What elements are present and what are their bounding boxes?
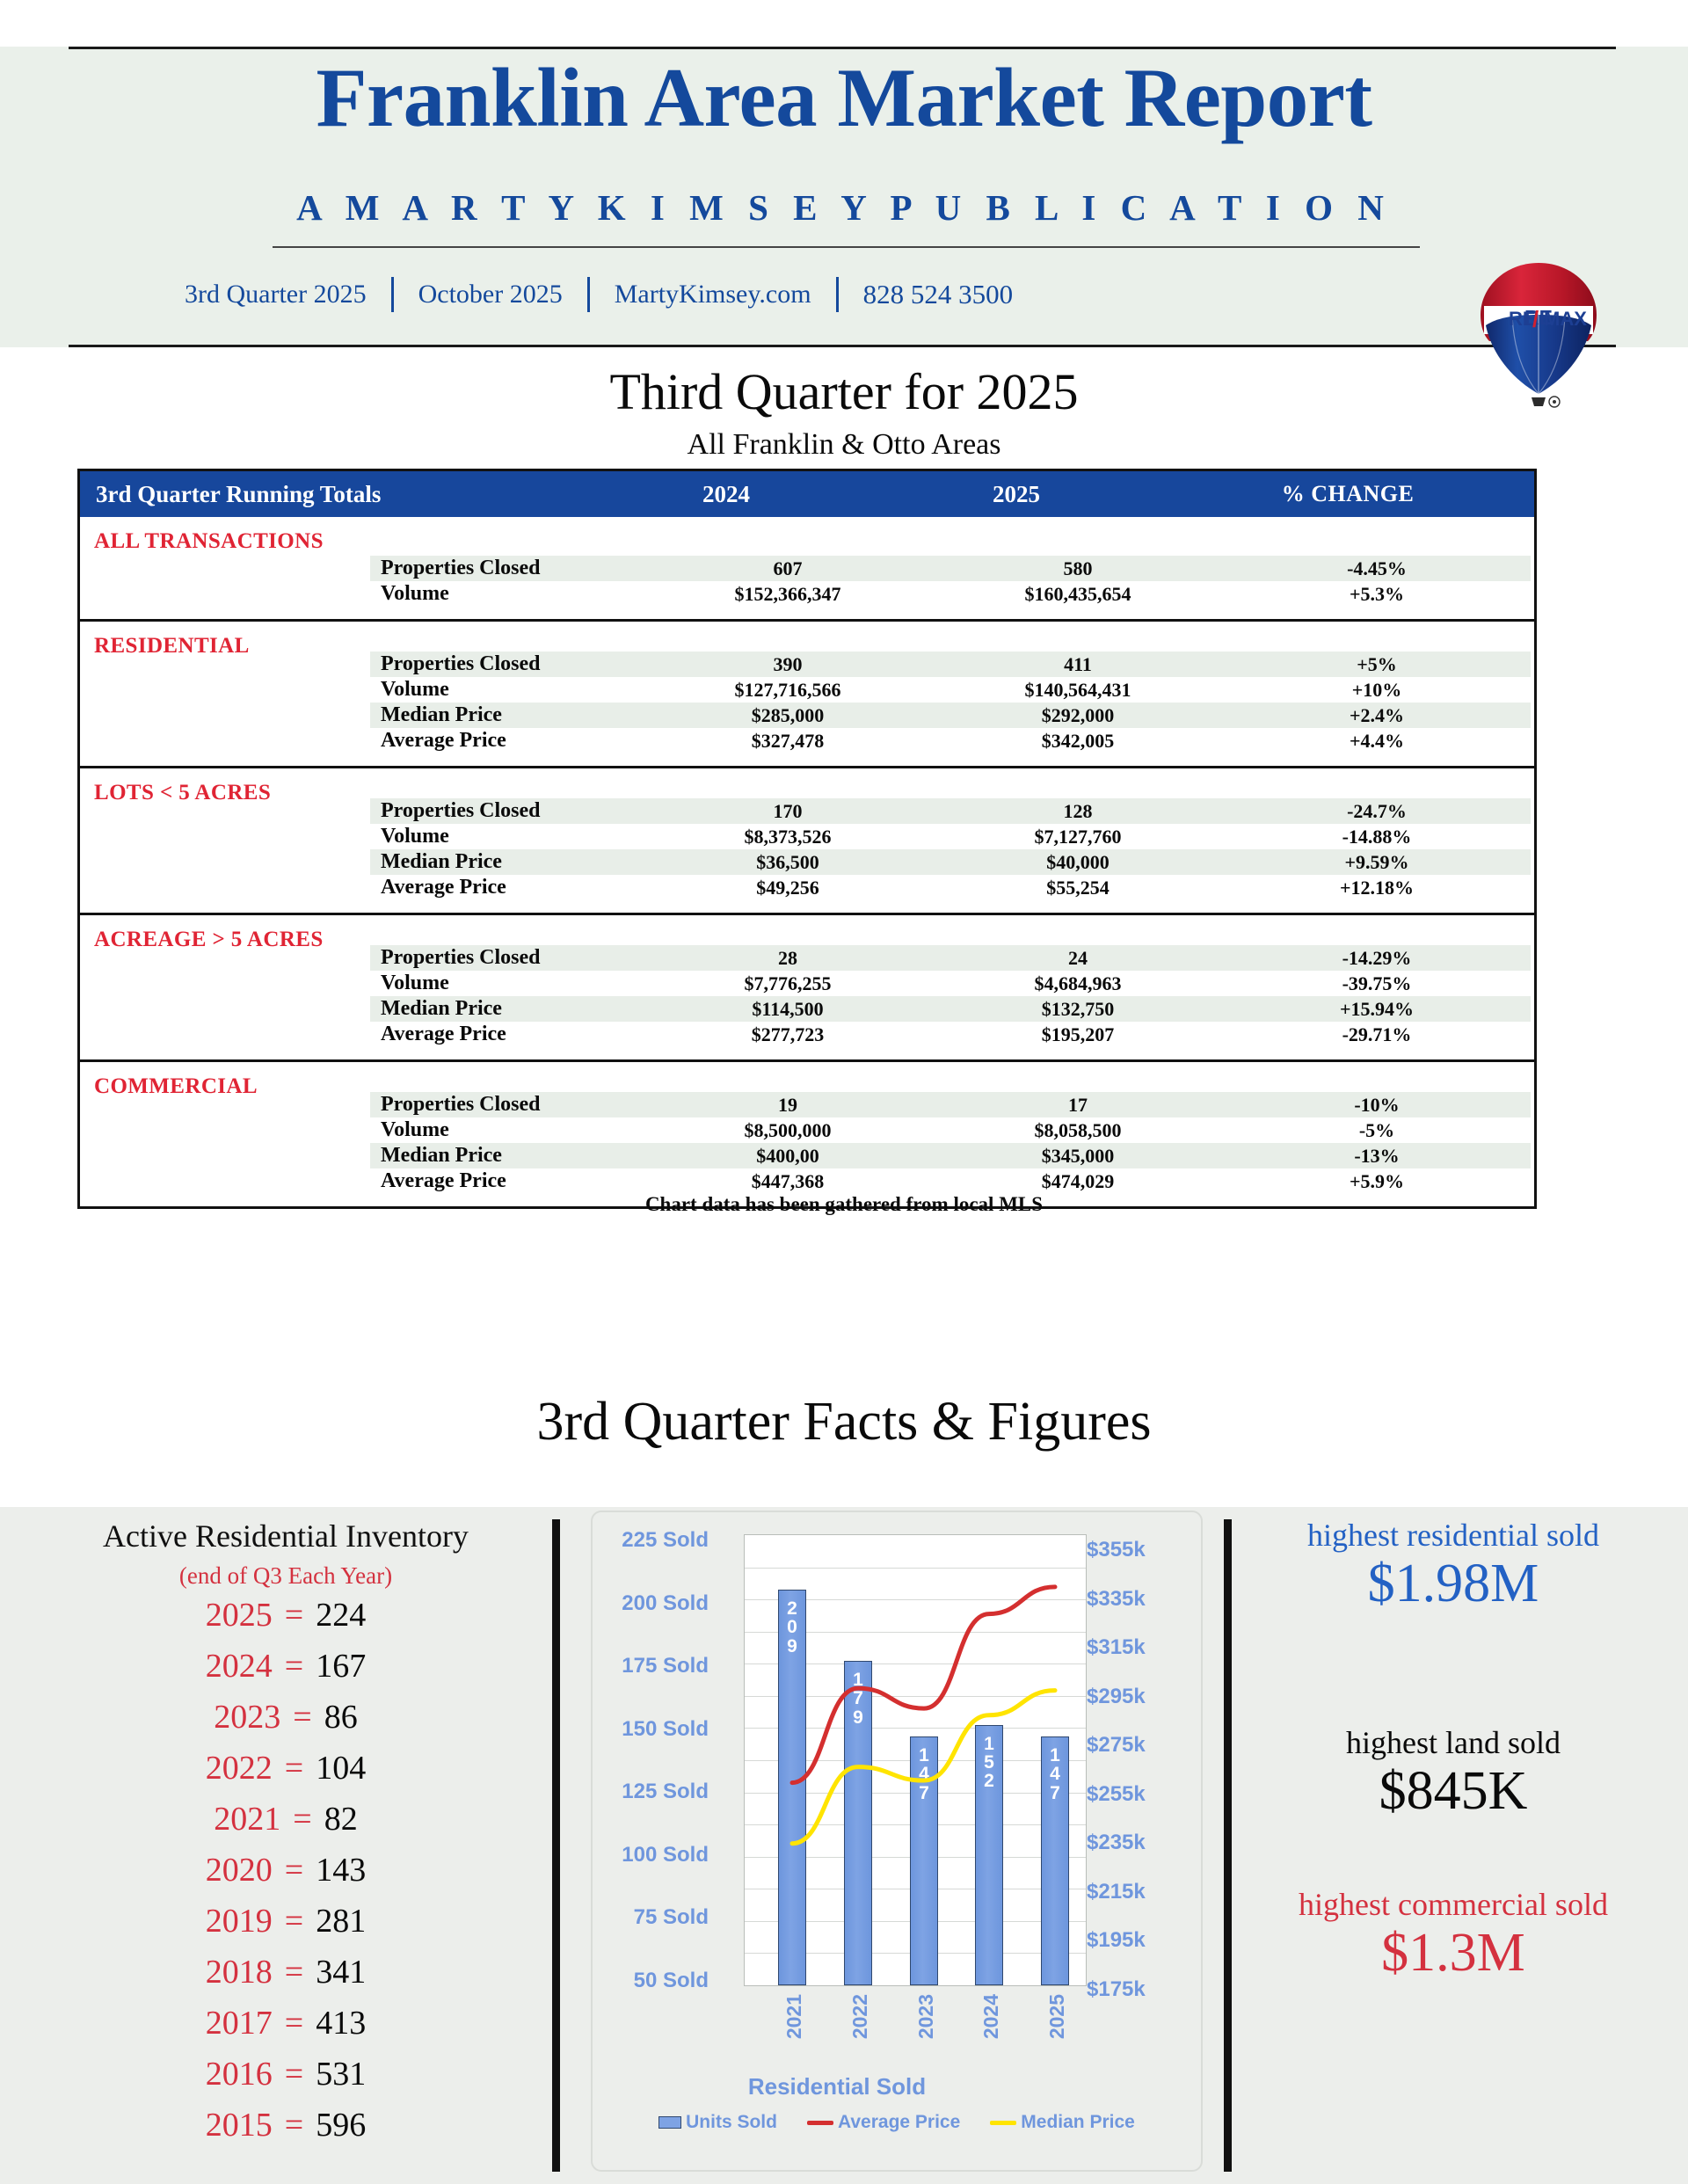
table-cell-2025: 24 [933, 947, 1223, 970]
table-cell-2024: $327,478 [643, 730, 933, 753]
highlight-land: highest land sold $845K [1247, 1725, 1660, 1824]
inventory-item-value: 167 [316, 1647, 366, 1685]
header-meta-row: 3rd Quarter 2025 October 2025 MartyKimse… [185, 277, 1433, 312]
table-cell-change: -29.71% [1223, 1023, 1531, 1046]
highlight-land-label: highest land sold [1247, 1725, 1660, 1760]
chart-x-label: 2021 [782, 1994, 806, 2039]
table-cell-label: Properties Closed [370, 946, 643, 970]
right-axis-tick: $295k [1087, 1685, 1146, 1709]
table-cell-label: Median Price [370, 997, 643, 1021]
right-axis-tick: $175k [1087, 1977, 1146, 2002]
table-cell-label: Properties Closed [370, 557, 643, 580]
table-cell-2024: $277,723 [643, 1023, 933, 1046]
table-row: Volume$8,500,000$8,058,500-5% [370, 1117, 1531, 1143]
inventory-item-year: 2015 [206, 2106, 273, 2144]
chart-legend-item: Median Price [990, 2112, 1135, 2133]
inventory-item-year: 2025 [206, 1596, 273, 1634]
highlight-residential: highest residential sold $1.98M [1247, 1518, 1660, 1616]
inventory-item: 2023=86 [53, 1698, 519, 1749]
table-cell-label: Average Price [370, 729, 643, 753]
meta-website-link[interactable]: MartyKimsey.com [615, 280, 811, 309]
table-cell-label: Average Price [370, 876, 643, 899]
inventory-item-equals: = [293, 1698, 311, 1736]
inventory-item-year: 2017 [206, 2004, 273, 2042]
inventory-item-year: 2016 [206, 2055, 273, 2093]
average-price-line [792, 1587, 1055, 1783]
table-cell-2025: $55,254 [933, 877, 1223, 899]
highlight-residential-label: highest residential sold [1247, 1518, 1660, 1553]
table-row: Volume$8,373,526$7,127,760-14.88% [370, 824, 1531, 849]
chart-right-axis: $355k$335k$315k$295k$275k$255k$235k$215k… [1087, 1532, 1201, 1980]
legend-line-swatch [990, 2121, 1016, 2125]
table-cell-change: -5% [1223, 1119, 1531, 1142]
inventory-item: 2025=224 [53, 1596, 519, 1647]
inventory-item-value: 104 [316, 1749, 366, 1787]
inventory-item-value: 143 [316, 1851, 366, 1889]
table-section-rows: Properties Closed1917-10%Volume$8,500,00… [370, 1062, 1531, 1206]
table-cell-change: +15.94% [1223, 998, 1531, 1021]
svg-text:/: / [1532, 306, 1539, 332]
table-cell-change: -10% [1223, 1094, 1531, 1117]
table-cell-label: Median Price [370, 850, 643, 874]
table-section-title: ALL TRANSACTIONS [94, 529, 324, 554]
table-cell-change: -13% [1223, 1145, 1531, 1168]
legend-label: Median Price [1021, 2112, 1135, 2133]
table-cell-2024: 19 [643, 1094, 933, 1117]
table-section-rows: Properties Closed607580-4.45%Volume$152,… [370, 517, 1531, 619]
inventory-item: 2022=104 [53, 1749, 519, 1800]
table-row: Median Price$285,000$292,000+2.4% [370, 703, 1531, 728]
table-cell-label: Properties Closed [370, 799, 643, 823]
inventory-item-equals: = [285, 1647, 303, 1685]
table-section: COMMERCIALProperties Closed1917-10%Volum… [80, 1062, 1534, 1206]
right-axis-tick: $315k [1087, 1635, 1146, 1660]
table-row: Properties Closed390411+5% [370, 652, 1531, 677]
meta-separator-3 [836, 277, 839, 312]
inventory-item-equals: = [285, 2055, 303, 2093]
table-row: Volume$152,366,347$160,435,654+5.3% [370, 581, 1531, 607]
right-axis-tick: $235k [1087, 1831, 1146, 1855]
table-cell-2025: 411 [933, 653, 1223, 676]
column-header-2025: 2025 [871, 481, 1161, 508]
header-bottom-rule [69, 345, 1616, 347]
inventory-item-value: 86 [324, 1698, 358, 1736]
table-section: ACREAGE > 5 ACRESProperties Closed2824-1… [80, 915, 1534, 1062]
right-axis-tick: $195k [1087, 1928, 1146, 1953]
table-row: Median Price$114,500$132,750+15.94% [370, 996, 1531, 1022]
inventory-item-value: 596 [316, 2106, 366, 2144]
table-cell-change: +5.9% [1223, 1170, 1531, 1193]
table-cell-2024: $8,373,526 [643, 826, 933, 848]
chart-x-label: 2024 [979, 1994, 1003, 2039]
right-axis-tick: $215k [1087, 1880, 1146, 1904]
table-section: RESIDENTIALProperties Closed390411+5%Vol… [80, 622, 1534, 768]
table-cell-label: Properties Closed [370, 1093, 643, 1117]
inventory-item-equals: = [285, 1749, 303, 1787]
table-section-rows: Properties Closed170128-24.7%Volume$8,37… [370, 768, 1531, 913]
table-header-row: 3rd Quarter Running Totals 2024 2025 % C… [80, 471, 1534, 517]
chart-x-label: 2023 [914, 1994, 938, 2039]
table-cell-2024: 607 [643, 557, 933, 580]
column-header-change: % CHANGE [1161, 481, 1534, 507]
inventory-item-equals: = [285, 2004, 303, 2042]
inventory-item-equals: = [285, 1596, 303, 1634]
divider-left [552, 1519, 560, 2172]
left-axis-tick: 150 Sold [622, 1717, 709, 1742]
highlight-land-value: $845K [1247, 1760, 1660, 1823]
inventory-item-value: 224 [316, 1596, 366, 1634]
table-cell-label: Average Price [370, 1169, 643, 1193]
inventory-title: Active Residential Inventory [53, 1518, 519, 1554]
table-cell-label: Median Price [370, 703, 643, 727]
table-cell-change: +12.18% [1223, 877, 1531, 899]
legend-label: Units Sold [686, 2112, 777, 2133]
publication-subtitle: A M A R T Y K I M S E Y P U B L I C A T … [0, 186, 1688, 229]
meta-phone-number[interactable]: 828 524 3500 [863, 279, 1014, 310]
table-cell-label: Volume [370, 582, 643, 606]
inventory-item: 2021=82 [53, 1800, 519, 1851]
inventory-item-year: 2022 [206, 1749, 273, 1787]
meta-quarter: 3rd Quarter 2025 [185, 280, 367, 309]
table-row: Properties Closed607580-4.45% [370, 556, 1531, 581]
table-cell-label: Volume [370, 678, 643, 702]
table-cell-2025: $132,750 [933, 998, 1223, 1021]
table-section-title: RESIDENTIAL [94, 634, 250, 659]
legend-bar-swatch [658, 2116, 681, 2129]
inventory-item-year: 2019 [206, 1902, 273, 1940]
table-row: Median Price$400,00$345,000-13% [370, 1143, 1531, 1168]
inventory-item-equals: = [285, 1953, 303, 1991]
table-row: Properties Closed2824-14.29% [370, 945, 1531, 971]
column-header-category: 3rd Quarter Running Totals [80, 481, 581, 508]
table-row: Average Price$447,368$474,029+5.9% [370, 1168, 1531, 1194]
table-cell-2025: $140,564,431 [933, 679, 1223, 702]
table-cell-2024: 390 [643, 653, 933, 676]
table-cell-2024: $7,776,255 [643, 972, 933, 995]
table-cell-2024: 170 [643, 800, 933, 823]
table-cell-label: Average Price [370, 1023, 643, 1046]
inventory-item-value: 82 [324, 1800, 358, 1838]
table-cell-2025: $474,029 [933, 1170, 1223, 1193]
table-section: LOTS < 5 ACRESProperties Closed170128-24… [80, 768, 1534, 915]
table-row: Average Price$277,723$195,207-29.71% [370, 1022, 1531, 1047]
chart-legend-item: Average Price [807, 2112, 960, 2133]
table-cell-2024: $285,000 [643, 704, 933, 727]
svg-text:MAX: MAX [1544, 308, 1587, 330]
mls-source-note: Chart data has been gathered from local … [0, 1193, 1688, 1216]
table-cell-label: Volume [370, 825, 643, 848]
chart-line-overlay [745, 1535, 1086, 1985]
table-cell-2024: $36,500 [643, 851, 933, 874]
inventory-item: 2016=531 [53, 2055, 519, 2106]
running-totals-table: 3rd Quarter Running Totals 2024 2025 % C… [77, 469, 1537, 1209]
table-cell-change: -14.29% [1223, 947, 1531, 970]
table-cell-2025: 580 [933, 557, 1223, 580]
table-cell-2025: $160,435,654 [933, 583, 1223, 606]
header-top-rule [69, 47, 1616, 49]
table-cell-2025: $7,127,760 [933, 826, 1223, 848]
page-title: Franklin Area Market Report [0, 55, 1688, 142]
legend-line-swatch [807, 2121, 833, 2125]
column-header-2024: 2024 [581, 481, 871, 508]
table-cell-2024: $447,368 [643, 1170, 933, 1193]
inventory-item-value: 281 [316, 1902, 366, 1940]
chart-x-axis-labels: 20212022202320242025 [744, 1994, 1087, 2064]
inventory-item-year: 2018 [206, 1953, 273, 1991]
quarter-heading: Third Quarter for 2025 [0, 362, 1688, 421]
table-cell-label: Properties Closed [370, 652, 643, 676]
inventory-subtitle: (end of Q3 Each Year) [53, 1562, 519, 1590]
table-section-rows: Properties Closed2824-14.29%Volume$7,776… [370, 915, 1531, 1059]
table-cell-2025: $4,684,963 [933, 972, 1223, 995]
table-section-title: COMMERCIAL [94, 1074, 258, 1099]
table-cell-2025: $195,207 [933, 1023, 1223, 1046]
left-axis-tick: 200 Sold [622, 1591, 709, 1616]
table-row: Volume$7,776,255$4,684,963-39.75% [370, 971, 1531, 996]
table-cell-2024: $152,366,347 [643, 583, 933, 606]
left-axis-tick: 50 Sold [634, 1969, 709, 1993]
chart-x-axis-title: Residential Sold [591, 2073, 1083, 2100]
table-cell-2025: 17 [933, 1094, 1223, 1117]
table-cell-2024: $400,00 [643, 1145, 933, 1168]
inventory-item: 2018=341 [53, 1953, 519, 2004]
inventory-item-equals: = [293, 1800, 311, 1838]
left-axis-tick: 75 Sold [634, 1905, 709, 1930]
inventory-item-value: 413 [316, 2004, 366, 2042]
right-axis-tick: $355k [1087, 1538, 1146, 1562]
table-body: ALL TRANSACTIONSProperties Closed607580-… [80, 517, 1534, 1206]
inventory-item: 2019=281 [53, 1902, 519, 1953]
inventory-item-year: 2023 [214, 1698, 280, 1736]
table-cell-change: +10% [1223, 679, 1531, 702]
table-cell-2024: $127,716,566 [643, 679, 933, 702]
inventory-item-equals: = [285, 1851, 303, 1889]
table-row: Average Price$327,478$342,005+4.4% [370, 728, 1531, 753]
inventory-item-year: 2024 [206, 1647, 273, 1685]
table-cell-2024: 28 [643, 947, 933, 970]
inventory-item-year: 2020 [206, 1851, 273, 1889]
inventory-item-value: 531 [316, 2055, 366, 2093]
left-axis-tick: 100 Sold [622, 1843, 709, 1867]
left-axis-tick: 175 Sold [622, 1654, 709, 1678]
table-cell-change: -14.88% [1223, 826, 1531, 848]
table-cell-change: +9.59% [1223, 851, 1531, 874]
highlight-commercial-label: highest commercial sold [1247, 1887, 1660, 1922]
table-cell-2024: $8,500,000 [643, 1119, 933, 1142]
right-axis-tick: $335k [1087, 1587, 1146, 1612]
table-cell-2024: $114,500 [643, 998, 933, 1021]
inventory-item: 2020=143 [53, 1851, 519, 1902]
table-section-title: ACREAGE > 5 ACRES [94, 928, 324, 952]
chart-legend-item: Units Sold [658, 2112, 777, 2133]
table-cell-change: +4.4% [1223, 730, 1531, 753]
facts-figures-heading: 3rd Quarter Facts & Figures [0, 1391, 1688, 1453]
table-cell-label: Volume [370, 972, 643, 995]
left-axis-tick: 125 Sold [622, 1780, 709, 1804]
table-cell-change: +5% [1223, 653, 1531, 676]
right-axis-tick: $275k [1087, 1733, 1146, 1758]
table-cell-change: -24.7% [1223, 800, 1531, 823]
table-cell-label: Median Price [370, 1144, 643, 1168]
area-subheading: All Franklin & Otto Areas [0, 428, 1688, 462]
inventory-item: 2015=596 [53, 2106, 519, 2157]
chart-left-axis: 225 Sold200 Sold175 Sold150 Sold125 Sold… [603, 1532, 709, 1980]
header-divider-rule [273, 246, 1420, 248]
table-cell-change: -39.75% [1223, 972, 1531, 995]
chart-plot-area: 209179147152147 [744, 1534, 1087, 1986]
table-cell-2025: $345,000 [933, 1145, 1223, 1168]
meta-month: October 2025 [418, 280, 563, 309]
divider-right [1224, 1519, 1232, 2172]
meta-separator-1 [391, 277, 394, 312]
left-axis-tick: 225 Sold [622, 1528, 709, 1553]
table-row: Properties Closed1917-10% [370, 1092, 1531, 1117]
table-cell-change: +2.4% [1223, 704, 1531, 727]
inventory-item-value: 341 [316, 1953, 366, 1991]
table-row: Average Price$49,256$55,254+12.18% [370, 875, 1531, 900]
inventory-item: 2017=413 [53, 2004, 519, 2055]
inventory-item-equals: = [285, 1902, 303, 1940]
chart-legend: Units SoldAverage PriceMedian Price [598, 2112, 1196, 2133]
chart-x-label: 2025 [1045, 1994, 1069, 2039]
svg-text:RE: RE [1509, 308, 1536, 330]
table-cell-2025: $292,000 [933, 704, 1223, 727]
inventory-item: 2024=167 [53, 1647, 519, 1698]
legend-label: Average Price [838, 2112, 960, 2133]
meta-separator-2 [587, 277, 590, 312]
highlight-commercial: highest commercial sold $1.3M [1247, 1887, 1660, 1985]
table-cell-2025: $8,058,500 [933, 1119, 1223, 1142]
table-section-title: LOTS < 5 ACRES [94, 781, 271, 805]
table-cell-change: -4.45% [1223, 557, 1531, 580]
right-axis-tick: $255k [1087, 1782, 1146, 1807]
inventory-item-equals: = [285, 2106, 303, 2144]
highlight-residential-value: $1.98M [1247, 1553, 1660, 1615]
table-cell-label: Volume [370, 1118, 643, 1142]
table-cell-2025: 128 [933, 800, 1223, 823]
table-row: Volume$127,716,566$140,564,431+10% [370, 677, 1531, 703]
inventory-list: 2025=2242024=1672023=862022=1042021=8220… [53, 1596, 519, 2157]
table-cell-2024: $49,256 [643, 877, 933, 899]
chart-x-label: 2022 [848, 1994, 872, 2039]
table-cell-change: +5.3% [1223, 583, 1531, 606]
table-row: Median Price$36,500$40,000+9.59% [370, 849, 1531, 875]
table-cell-2025: $342,005 [933, 730, 1223, 753]
table-row: Properties Closed170128-24.7% [370, 798, 1531, 824]
highlight-commercial-value: $1.3M [1247, 1922, 1660, 1984]
table-section-rows: Properties Closed390411+5%Volume$127,716… [370, 622, 1531, 766]
inventory-item-year: 2021 [214, 1800, 280, 1838]
table-section: ALL TRANSACTIONSProperties Closed607580-… [80, 517, 1534, 622]
table-cell-2025: $40,000 [933, 851, 1223, 874]
